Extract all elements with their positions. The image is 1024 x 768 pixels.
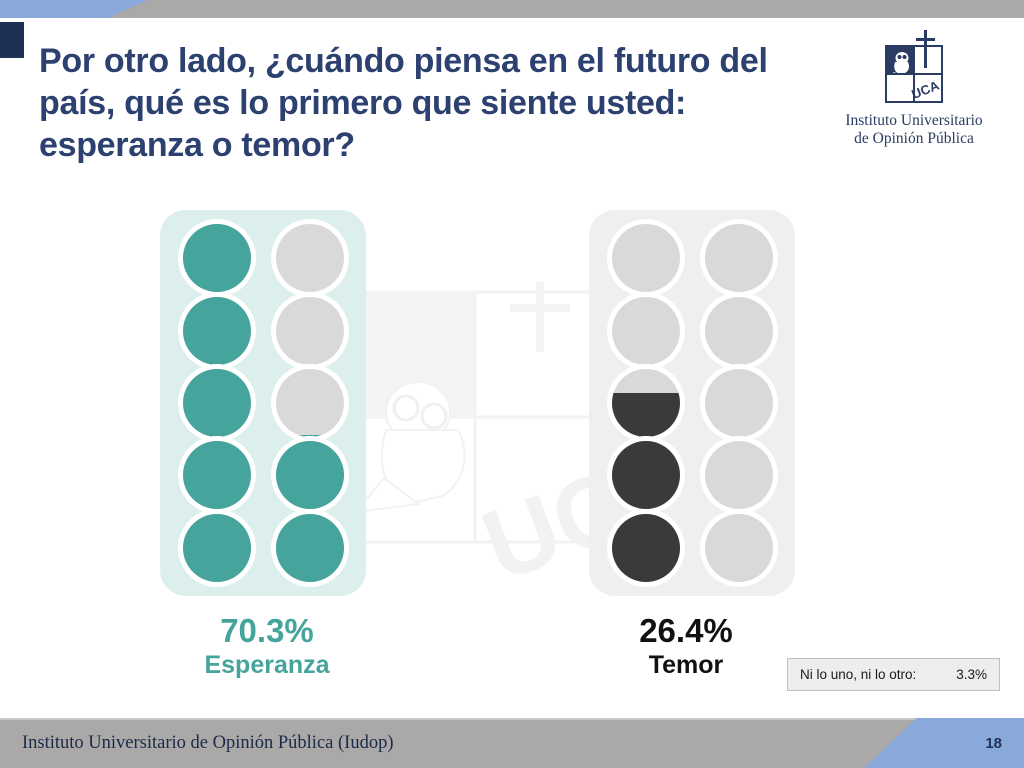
pictogram-dot — [705, 224, 773, 292]
pictogram-dot — [183, 297, 251, 365]
pictogram-dot — [276, 441, 344, 509]
pictogram-dot — [276, 369, 344, 437]
pictogram-dot — [705, 297, 773, 365]
pictogram-dot — [183, 369, 251, 437]
logo-caption-line1: Instituto Universitario — [845, 112, 982, 129]
pictogram-dot — [612, 514, 680, 582]
pictogram-cell — [172, 441, 261, 509]
pictogram-cell — [265, 514, 354, 582]
logo-caption: Instituto Universitario de Opinión Públi… — [824, 112, 1004, 148]
pictogram-cell — [601, 296, 690, 364]
pictogram-dot — [276, 224, 344, 292]
pictogram-dot — [612, 297, 680, 365]
pictogram-dot — [705, 441, 773, 509]
pictogram-cell — [601, 441, 690, 509]
esperanza-percent: 70.3% — [147, 612, 387, 650]
pictogram-cell — [694, 224, 783, 292]
pictogram-dot-fill — [276, 435, 344, 437]
legend-value: 3.3% — [956, 667, 987, 682]
footer-organization: Instituto Universitario de Opinión Públi… — [22, 733, 393, 754]
value-label-temor: 26.4% Temor — [566, 612, 806, 680]
pictogram-cell — [265, 224, 354, 292]
pictogram-cell — [265, 369, 354, 437]
pictogram-cell — [601, 224, 690, 292]
pictogram-cell — [601, 369, 690, 437]
pictogram-dot — [612, 441, 680, 509]
pictogram-cell — [265, 296, 354, 364]
pictogram-dot-fill — [276, 441, 344, 509]
institution-logo: UCA Instituto Universitario de Opinión P… — [824, 28, 1004, 148]
pictogram-panel-esperanza — [160, 210, 366, 596]
pictogram-dot — [183, 441, 251, 509]
pictogram-dot-fill — [183, 514, 251, 582]
pictogram-dot — [276, 514, 344, 582]
pictogram-dot-fill — [183, 297, 251, 365]
pictogram-dot-fill — [276, 514, 344, 582]
legend-ni-lo-uno-ni-lo-otro: Ni lo uno, ni lo otro: 3.3% — [787, 658, 1000, 691]
top-left-navy-accent — [0, 22, 24, 58]
pictogram-cell — [694, 296, 783, 364]
pictogram-dot-fill — [612, 514, 680, 582]
pictogram-dot — [183, 224, 251, 292]
temor-name: Temor — [566, 650, 806, 680]
pictogram-dot-fill — [612, 393, 680, 437]
pictogram-cell — [172, 369, 261, 437]
pictogram-dot — [276, 297, 344, 365]
pictogram-dot-fill — [612, 441, 680, 509]
esperanza-name: Esperanza — [147, 650, 387, 680]
pictogram-dot — [612, 224, 680, 292]
pictogram-cell — [172, 296, 261, 364]
cross-icon — [916, 30, 935, 68]
pictogram-dot-fill — [183, 224, 251, 292]
pictogram-dot — [705, 369, 773, 437]
pictogram-cell — [694, 441, 783, 509]
top-gray-band — [0, 0, 1024, 18]
logo-caption-line2: de Opinión Pública — [824, 130, 1004, 148]
value-label-esperanza: 70.3% Esperanza — [147, 612, 387, 680]
pictogram-cell — [694, 369, 783, 437]
pictogram-dot — [183, 514, 251, 582]
pictogram-dot-fill — [183, 369, 251, 437]
pictogram-cell — [694, 514, 783, 582]
pictogram-cell — [601, 514, 690, 582]
pictogram-dot — [612, 369, 680, 437]
temor-percent: 26.4% — [566, 612, 806, 650]
pictogram-dot-fill — [183, 441, 251, 509]
pictogram-cell — [172, 514, 261, 582]
page-number: 18 — [985, 735, 1002, 752]
page-title: Por otro lado, ¿cuándo piensa en el futu… — [39, 40, 829, 166]
legend-label: Ni lo uno, ni lo otro: — [800, 667, 916, 682]
pictogram-dot — [705, 514, 773, 582]
pictogram-panel-temor — [589, 210, 795, 596]
pictogram-cell — [265, 441, 354, 509]
uca-crest-icon: UCA — [868, 28, 960, 108]
pictogram-cell — [172, 224, 261, 292]
